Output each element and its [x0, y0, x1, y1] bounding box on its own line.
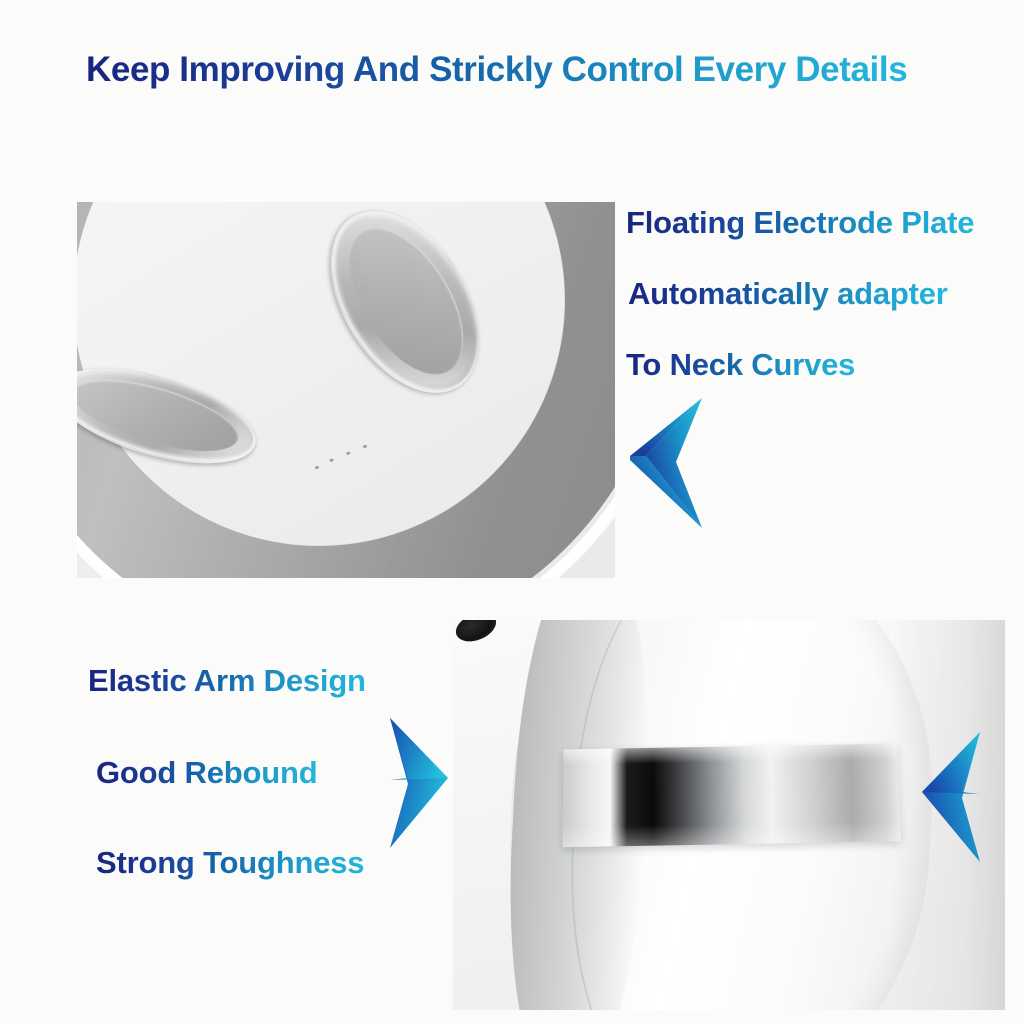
feature-top-line-2: Automatically adapter [628, 276, 948, 312]
chevron-left-icon [916, 732, 980, 862]
chevron-left-icon [628, 398, 702, 528]
electrode-corner-detail [453, 620, 500, 647]
product-photo-electrode-plate [77, 202, 615, 578]
product-feature-page: Keep Improving And Strickly Control Ever… [0, 0, 1024, 1024]
feature-bottom-line-2: Good Rebound [96, 755, 317, 791]
feature-top-line-1: Floating Electrode Plate [626, 205, 974, 241]
feature-bottom-line-1: Elastic Arm Design [88, 663, 366, 699]
chrome-elastic-band [562, 744, 901, 848]
chevron-right-icon [390, 718, 450, 848]
page-title: Keep Improving And Strickly Control Ever… [86, 50, 907, 90]
feature-bottom-line-3: Strong Toughness [96, 845, 364, 881]
feature-top-line-3: To Neck Curves [626, 347, 855, 383]
